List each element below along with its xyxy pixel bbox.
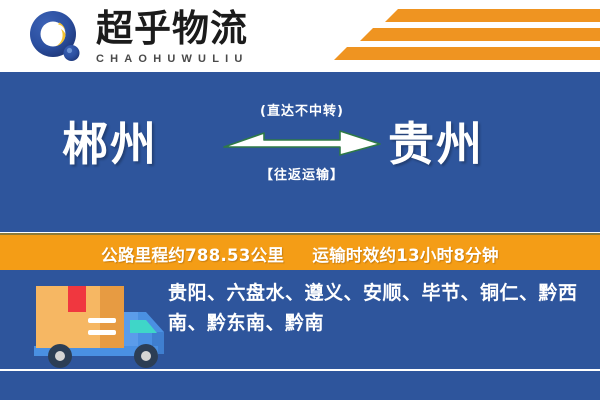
coverage-city-list: 贵阳、六盘水、遵义、安顺、毕节、铜仁、黔西南、黔东南、黔南 (168, 278, 588, 338)
double-headed-arrow-icon (222, 125, 382, 159)
destination-city: 贵州 (388, 116, 484, 172)
duration-value: 运输时效约13小时8分钟 (312, 246, 499, 265)
origin-city: 郴州 (62, 116, 158, 172)
logistics-route-banner: 超乎物流 CHAOHUWULIU 郴州 (直达不中转) 【往返运输】 贵州 公路… (0, 0, 600, 400)
brand-name-cn: 超乎物流 (96, 8, 296, 50)
delivery-truck-icon (26, 276, 176, 372)
brand-name-en: CHAOHUWULIU (96, 53, 296, 65)
stripe-1 (385, 9, 600, 22)
stripe-3 (334, 47, 600, 60)
round-trip-note: 【往返运输】 (218, 164, 386, 183)
banner-header: 超乎物流 CHAOHUWULIU (0, 0, 600, 72)
route-info-bar: 公路里程约788.53公里 运输时效约13小时8分钟 (0, 233, 600, 272)
route-panel: 郴州 (直达不中转) 【往返运输】 贵州 (0, 72, 600, 232)
stripe-2 (360, 28, 600, 41)
brand-lockup: 超乎物流 CHAOHUWULIU (96, 8, 296, 65)
route-center-group: (直达不中转) 【往返运输】 (218, 100, 386, 210)
route-info-text: 公路里程约788.53公里 运输时效约13小时8分钟 (101, 242, 499, 266)
direct-route-note: (直达不中转) (218, 100, 386, 119)
ground-divider (0, 369, 600, 371)
distance-value: 公路里程约788.53公里 (101, 246, 284, 265)
circular-q-logo-icon (28, 10, 84, 66)
decorative-stripes (330, 0, 600, 72)
coverage-panel: 贵阳、六盘水、遵义、安顺、毕节、铜仁、黔西南、黔东南、黔南 (0, 270, 600, 400)
